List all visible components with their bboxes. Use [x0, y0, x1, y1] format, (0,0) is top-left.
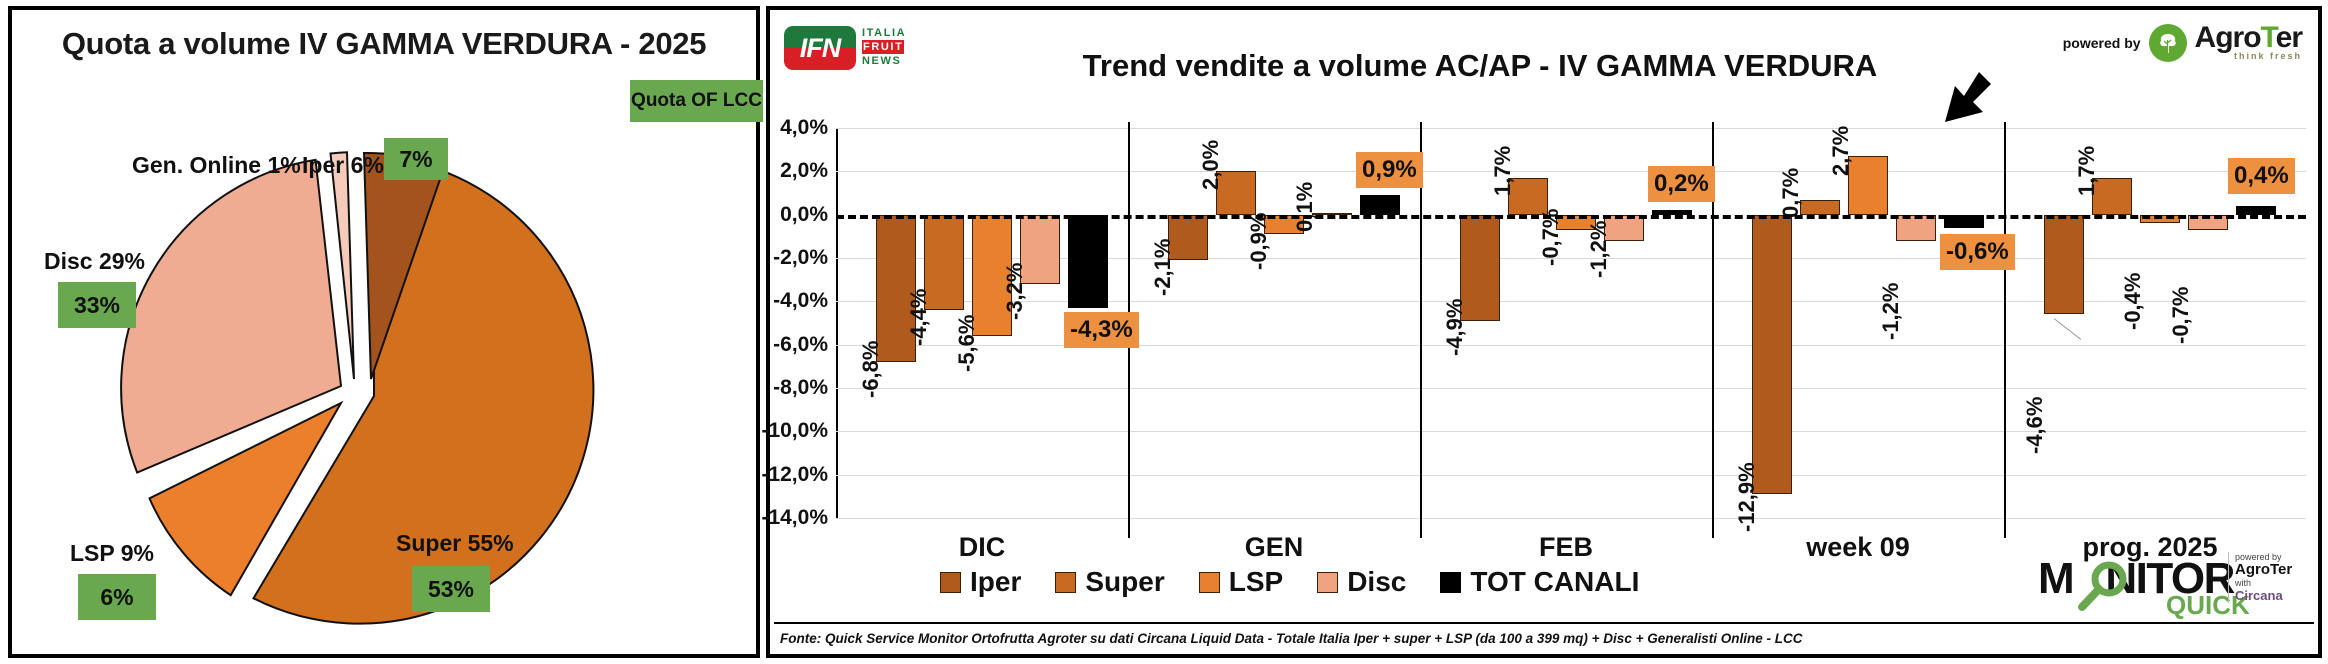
ifn-logo-text: IFN [800, 33, 841, 64]
slide-root: Quota a volume IV GAMMA VERDURA - 2025 Q… [0, 0, 2328, 664]
agroter-wordmark: AgroTer [2195, 25, 2302, 51]
x-category-feb: FEB [1420, 532, 1712, 563]
gridline [836, 345, 2306, 346]
legend-swatch-tot-canali [1440, 572, 1461, 593]
legend-item-iper: Iper [940, 566, 1021, 598]
ifn-logo: IFN ITALIA FRUIT NEWS [784, 22, 910, 80]
ifn-logo-mark: IFN [784, 26, 856, 70]
bar-week09-iper [1752, 215, 1792, 495]
y-tick-0: 4,0% [780, 116, 828, 140]
gridline [836, 388, 2306, 389]
bar-label-gen-lsp: -0,9% [1246, 213, 1272, 270]
y-tick-3: -2,0% [773, 246, 828, 270]
x-category-gen: GEN [1128, 532, 1420, 563]
bar-label-dic-lsp: -5,6% [954, 315, 980, 372]
pie-chart-panel: Quota a volume IV GAMMA VERDURA - 2025 Q… [8, 6, 760, 658]
bar-week09-super [1800, 200, 1840, 215]
y-tick-6: -8,0% [773, 376, 828, 400]
agroter-tree-icon [2149, 24, 2187, 62]
bar-label-gen-tot: 0,9% [1356, 152, 1423, 188]
legend-item-super: Super [1055, 566, 1164, 598]
tree-icon-svg [2155, 30, 2181, 56]
pie-chart-graphic [100, 130, 620, 650]
y-axis-labels: 4,0% 2,0% 0,0% -2,0% -4,0% -6,0% -8,0% -… [770, 128, 832, 518]
legend-label-super: Super [1085, 566, 1164, 598]
bar-label-feb-iper: -4,9% [1442, 299, 1468, 356]
pie-chip-disc: 33% [58, 282, 136, 328]
bar-label-prog2025-tot: 0,4% [2228, 158, 2295, 194]
legend-item-lsp: LSP [1199, 566, 1283, 598]
monitor-quick-credits: powered by AgroTer with Circana [2228, 552, 2306, 603]
y-tick-5: -6,0% [773, 333, 828, 357]
legend-swatch-lsp [1199, 572, 1220, 593]
group-separator [2004, 122, 2006, 538]
gridline [836, 518, 2306, 519]
bar-label-dic-tot: -4,3% [1064, 312, 1139, 348]
bar-label-week09-lsp: 2,7% [1828, 126, 1854, 176]
bar-label-prog2025-iper: -4,6% [2022, 397, 2048, 454]
legend-swatch-super [1055, 572, 1076, 593]
bar-label-gen-super: 2,0% [1198, 140, 1224, 190]
bar-week09-lsp [1848, 156, 1888, 215]
legend-label-iper: Iper [970, 566, 1021, 598]
bar-prog2025-iper [2044, 215, 2084, 315]
powered-by-label: powered by [2063, 35, 2141, 51]
powered-by-agroter: powered by AgroTer think fresh [2063, 24, 2302, 62]
ifn-word-fruit: FRUIT [862, 40, 904, 54]
quota-of-lcc-badge: Quota OF LCC [630, 80, 763, 122]
bar-label-gen-disc: 0,1% [1292, 182, 1318, 232]
pie-chip-iper: 7% [384, 138, 448, 180]
bar-label-week09-super: 0,7% [1778, 168, 1804, 218]
annotation-arrow-icon [1933, 70, 1993, 137]
bar-label-feb-disc: -1,2% [1586, 221, 1612, 278]
bar-label-week09-disc: -1,2% [1878, 283, 1904, 340]
ifn-word-italia: ITALIA [862, 26, 914, 40]
pie-label-iper: Iper 6% [302, 152, 384, 179]
magnifier-icon [2076, 560, 2132, 614]
mq-credit-circana: Circana [2235, 588, 2306, 603]
bar-chart-panel: IFN ITALIA FRUIT NEWS Trend vendite a vo… [766, 6, 2322, 658]
monitor-quick-logo: M NITOR QUICK powered by AgroTer with Ci… [2038, 546, 2306, 616]
legend-item-disc: Disc [1317, 566, 1406, 598]
bar-prog2025-tot [2236, 206, 2276, 215]
y-tick-1: 2,0% [780, 159, 828, 183]
ifn-logo-words: ITALIA FRUIT NEWS [862, 26, 914, 68]
legend-item-tot-canali: TOT CANALI [1440, 566, 1639, 598]
bar-chart-title: Trend vendite a volume AC/AP - IV GAMMA … [950, 48, 2010, 84]
chart-legend: Iper Super LSP Disc TOT CANALI [940, 566, 1639, 598]
bar-label-feb-super: 1,7% [1490, 146, 1516, 196]
gridline [836, 128, 2306, 129]
pie-chip-super: 53% [412, 566, 490, 612]
leader-line-prog2025-iper [2054, 318, 2081, 340]
source-note: Fonte: Quick Service Monitor Ortofrutta … [780, 631, 1803, 646]
pie-label-super: Super 55% [396, 530, 514, 557]
x-category-week09: week 09 [1712, 532, 2004, 563]
footer-divider [774, 622, 2314, 624]
plot-area: -6,8% -4,4% -5,6% -3,2% -4,3% -2,1% 2,0%… [836, 128, 2306, 518]
pie-svg [100, 130, 620, 650]
gridline [836, 431, 2306, 432]
arrow-icon-svg [1933, 70, 1993, 132]
pie-chart-title: Quota a volume IV GAMMA VERDURA - 2025 [12, 26, 756, 62]
y-tick-2: 0,0% [780, 203, 828, 227]
mq-credit-agroter: AgroTer [2235, 562, 2306, 578]
bar-label-week09-iper: -12,9% [1734, 462, 1760, 532]
x-category-dic: DIC [836, 532, 1128, 563]
y-tick-8: -12,0% [761, 463, 828, 487]
bar-dic-tot [1068, 215, 1108, 308]
pie-label-lsp: LSP 9% [70, 540, 154, 567]
gridline [836, 301, 2306, 302]
pie-label-disc: Disc 29% [44, 248, 145, 275]
bar-label-prog2025-super: 1,7% [2074, 146, 2100, 196]
bar-label-feb-tot: 0,2% [1648, 166, 1715, 202]
legend-swatch-disc [1317, 572, 1338, 593]
bar-label-prog2025-disc: -0,7% [2168, 287, 2194, 344]
pie-label-gen-online: Gen. Online 1% [132, 152, 301, 179]
legend-label-disc: Disc [1347, 566, 1406, 598]
pie-chip-lsp: 6% [78, 574, 156, 620]
y-tick-9: -14,0% [761, 506, 828, 530]
gridline [836, 475, 2306, 476]
legend-label-tot-canali: TOT CANALI [1470, 566, 1639, 598]
bar-label-gen-iper: -2,1% [1150, 239, 1176, 296]
ifn-word-news: NEWS [862, 54, 914, 68]
bar-label-dic-iper: -6,8% [858, 341, 884, 398]
mq-credit-with: with [2235, 578, 2306, 588]
legend-swatch-iper [940, 572, 961, 593]
y-axis-line [836, 128, 838, 518]
bar-label-dic-super: -4,4% [906, 289, 932, 346]
bar-gen-tot [1360, 195, 1400, 215]
y-tick-7: -10,0% [761, 419, 828, 443]
bar-label-prog2025-lsp: -0,4% [2120, 273, 2146, 330]
legend-label-lsp: LSP [1229, 566, 1283, 598]
bar-label-week09-tot: -0,6% [1940, 234, 2015, 270]
zero-baseline [836, 215, 2306, 219]
y-tick-4: -4,0% [773, 289, 828, 313]
bar-label-dic-disc: -3,2% [1002, 263, 1028, 320]
